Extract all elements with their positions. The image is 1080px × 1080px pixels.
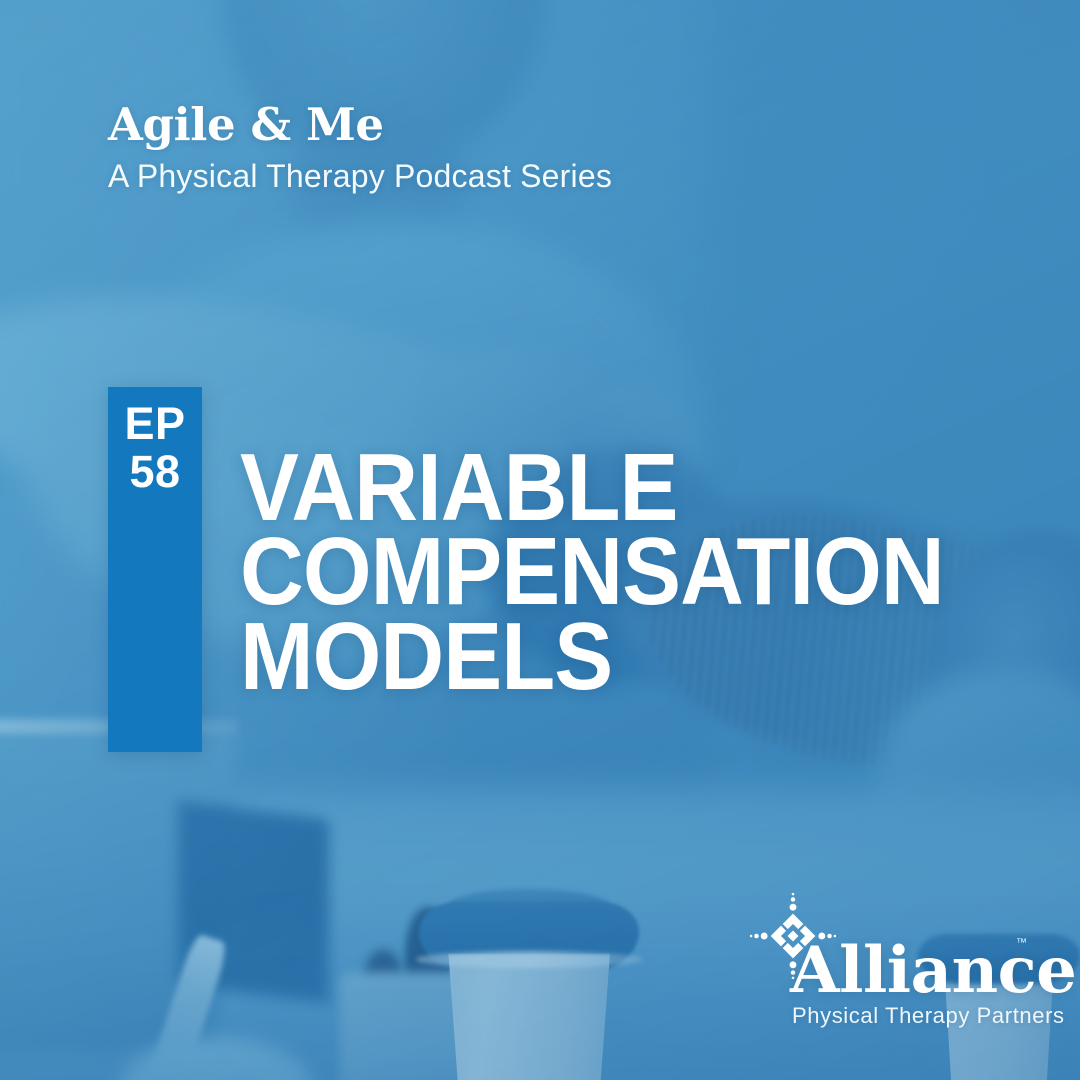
cover-content: Agile & Me A Physical Therapy Podcast Se… (0, 0, 1080, 1080)
episode-badge-label: EP (108, 400, 202, 448)
podcast-title: Agile & Me (108, 102, 612, 147)
brand-block: Agile & Me A Physical Therapy Podcast Se… (108, 102, 612, 192)
episode-title-line-3: MODELS (240, 615, 884, 699)
episode-title: VARIABLE COMPENSATION MODELS (240, 446, 884, 699)
episode-number-badge: EP 58 (108, 387, 202, 752)
episode-badge-number: 58 (108, 448, 202, 496)
podcast-subtitle: A Physical Therapy Podcast Series (108, 160, 612, 192)
alliance-logo: Alliance ™ Physical Therapy Partners (748, 893, 1038, 1038)
trademark-symbol: ™ (1016, 937, 1027, 949)
podcast-cover-card: Agile & Me A Physical Therapy Podcast Se… (0, 0, 1080, 1080)
episode-badge-stack: EP 58 (108, 387, 202, 496)
alliance-wordmark: Alliance (790, 939, 1076, 1003)
alliance-tagline: Physical Therapy Partners (792, 1005, 1065, 1027)
